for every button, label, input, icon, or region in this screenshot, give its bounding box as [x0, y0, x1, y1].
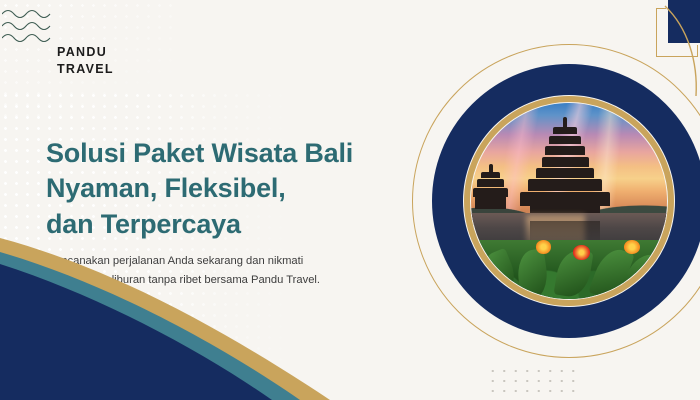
- headline-line-1: Solusi Paket Wisata Bali: [46, 136, 396, 171]
- layered-curve-decoration: [0, 230, 330, 400]
- brand-logo-line-2: TRAVEL: [57, 61, 114, 78]
- headline: Solusi Paket Wisata Bali Nyaman, Fleksib…: [46, 136, 396, 242]
- wave-lines-icon: [2, 6, 58, 48]
- travel-promo-banner: PANDU TRAVEL Solusi Paket Wisata Bali Ny…: [0, 0, 700, 400]
- inner-gold-ring: [464, 96, 674, 306]
- brand-logo: PANDU TRAVEL: [57, 44, 114, 77]
- brand-logo-line-1: PANDU: [57, 44, 114, 61]
- gold-arc-decoration: [560, 0, 700, 120]
- dot-grid-decoration: [487, 366, 583, 392]
- headline-line-2: Nyaman, Fleksibel,: [46, 171, 396, 206]
